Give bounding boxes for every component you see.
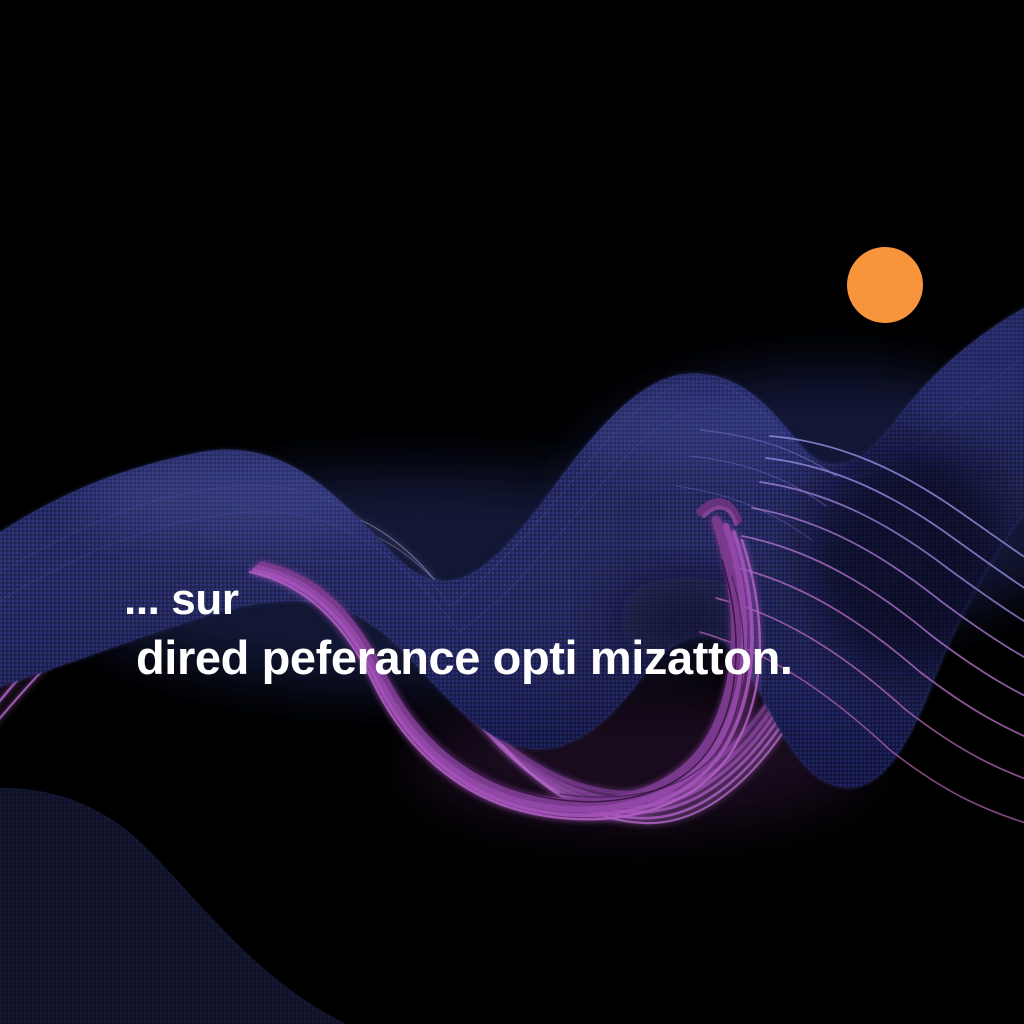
glow-layer [0,0,1024,1024]
mesh-wave-band [0,0,1024,1024]
artwork-canvas: ... sur dired peferance opti mizatton. .… [0,0,1024,1024]
lavender-strand-fan-right [0,0,1024,1024]
caption-line-2: dired peferance opti mizatton. [136,634,1024,681]
caption-block: ... sur dired peferance opti mizatton. [0,578,1024,681]
caption-line-1: ... sur [124,578,1024,622]
orange-circle [847,247,923,323]
shadow-wave-band [0,0,1024,1024]
purple-strand-bundle-left [0,0,1024,1024]
purple-ribbon-loop [0,0,1024,1024]
